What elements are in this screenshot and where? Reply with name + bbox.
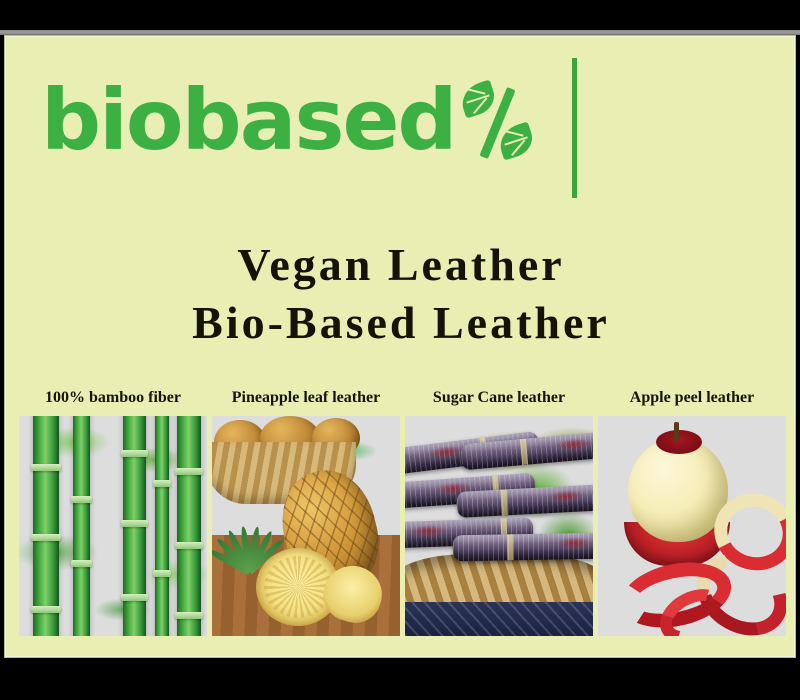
apple-peel-photo <box>598 416 786 636</box>
brand-wordmark: biobased <box>41 78 456 162</box>
caption-sugarcane: Sugar Cane leather <box>405 388 593 416</box>
bamboo-culm <box>73 416 90 636</box>
apple-stem <box>674 422 679 442</box>
caption-apple: Apple peel leather <box>598 388 786 416</box>
vertical-green-divider <box>572 58 577 198</box>
leaf-percent-icon <box>459 84 543 162</box>
leaf-vein <box>503 130 523 137</box>
caption-pineapple: Pineapple leaf leather <box>212 388 400 416</box>
screen: biobased Vegan Leather Bio-Based Leather <box>0 0 800 700</box>
caption-bamboo: 100% bamboo fiber <box>19 388 207 416</box>
headline-line-2: Bio-Based Leather <box>5 294 797 352</box>
sugarcane-stalk <box>453 533 593 562</box>
window-chrome-bottom <box>0 658 800 700</box>
gallery-card-sugarcane: Sugar Cane leather <box>405 388 593 638</box>
leaf-vein <box>465 88 485 95</box>
gallery-card-bamboo: 100% bamboo fiber <box>19 388 207 638</box>
bamboo-culm <box>33 416 59 636</box>
poster-canvas: biobased Vegan Leather Bio-Based Leather <box>4 35 796 658</box>
material-gallery: 100% bamboo fiber <box>19 388 783 638</box>
brand-logo: biobased <box>41 56 601 216</box>
window-chrome-top <box>0 0 800 30</box>
gallery-card-pineapple: Pineapple leaf leather <box>212 388 400 638</box>
bamboo-culm <box>155 416 169 636</box>
page-title: Vegan Leather Bio-Based Leather <box>5 236 797 352</box>
percent-leaf-top-icon <box>457 79 499 118</box>
apple-top-skin <box>656 430 702 454</box>
gallery-card-apple: Apple peel leather <box>598 388 786 638</box>
sugarcane-photo <box>405 416 593 636</box>
percent-leaf-bottom-icon <box>495 121 537 160</box>
bamboo-culm <box>123 416 146 636</box>
pineapple-photo <box>212 416 400 636</box>
bamboo-culm <box>177 416 201 636</box>
headline-line-1: Vegan Leather <box>5 236 797 294</box>
patterned-cloth <box>405 602 593 636</box>
bamboo-photo <box>19 416 207 636</box>
